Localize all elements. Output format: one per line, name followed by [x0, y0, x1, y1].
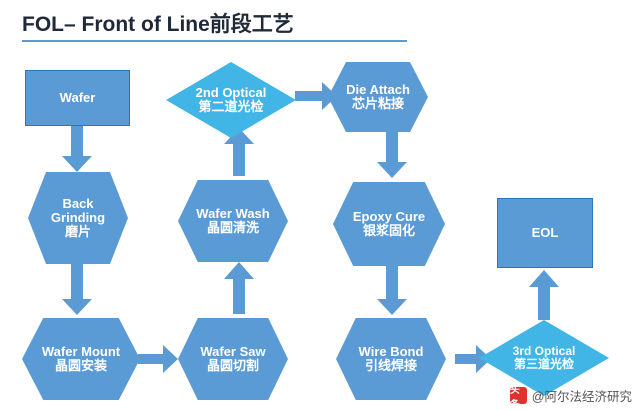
node-wire-bond-label-en: Wire Bond [359, 345, 424, 359]
node-wafer-saw-label-cn: 晶圆切割 [207, 359, 259, 373]
node-wafer-wash-label-cn: 晶圆清洗 [207, 221, 259, 235]
node-wire-bond[interactable]: Wire Bond 引线焊接 [336, 318, 446, 400]
watermark-text: @阿尔法经济研究 [532, 386, 632, 405]
node-wire-bond-label-cn: 引线焊接 [365, 359, 417, 373]
arrow-back-grinding-to-wafer-mount [62, 263, 92, 315]
node-2nd-optical-label-en: 2nd Optical [196, 86, 267, 100]
node-wafer-wash[interactable]: Wafer Wash 晶圆清洗 [178, 180, 288, 262]
node-back-grinding-label-cn: 磨片 [65, 225, 91, 239]
node-die-attach[interactable]: Die Attach 芯片粘接 [328, 62, 428, 132]
title-underline [22, 40, 407, 42]
node-back-grinding-label-en-1: Back [62, 197, 93, 211]
node-wafer-mount-label-en: Wafer Mount [42, 345, 120, 359]
node-wafer-saw-label-en: Wafer Saw [200, 345, 265, 359]
node-3rd-optical[interactable]: 3rd Optical 第三道光检 [479, 320, 609, 396]
arrow-3rd-optical-to-eol [529, 270, 559, 320]
node-wafer-wash-label-en: Wafer Wash [196, 207, 269, 221]
node-back-grinding-label-en-2: Grinding [51, 211, 105, 225]
page-title: FOL– Front of Line前段工艺 [22, 8, 294, 38]
arrow-wafer-mount-to-wafer-saw [138, 345, 178, 373]
node-eol[interactable]: EOL [497, 198, 593, 268]
node-epoxy-cure-label-en: Epoxy Cure [353, 210, 425, 224]
node-wafer-label-en: Wafer [60, 91, 96, 105]
node-epoxy-cure-label-cn: 银浆固化 [363, 224, 415, 238]
node-die-attach-label-cn: 芯片粘接 [352, 97, 404, 111]
toutiao-logo-icon: 头条 [510, 387, 527, 404]
arrow-die-attach-to-epoxy-cure [377, 130, 407, 178]
node-wafer-mount-label-cn: 晶圆安装 [55, 359, 107, 373]
node-back-grinding[interactable]: Back Grinding 磨片 [28, 172, 128, 264]
node-epoxy-cure[interactable]: Epoxy Cure 银浆固化 [333, 182, 445, 266]
node-wafer-saw[interactable]: Wafer Saw 晶圆切割 [178, 318, 288, 400]
node-wafer[interactable]: Wafer [25, 70, 130, 126]
arrow-epoxy-cure-to-wire-bond [377, 265, 407, 315]
arrow-wafer-to-back-grinding [62, 126, 92, 172]
node-die-attach-label-en: Die Attach [346, 83, 410, 97]
node-eol-label-en: EOL [532, 226, 559, 240]
watermark: 头条 @阿尔法经济研究 [510, 386, 632, 405]
node-3rd-optical-label-cn: 第三道光检 [514, 358, 574, 371]
arrow-wafer-saw-to-wafer-wash [224, 262, 254, 314]
node-2nd-optical[interactable]: 2nd Optical 第二道光检 [166, 62, 296, 138]
diagram-canvas: FOL– Front of Line前段工艺 [0, 0, 640, 411]
node-2nd-optical-label-cn: 第二道光检 [198, 100, 263, 114]
node-wafer-mount[interactable]: Wafer Mount 晶圆安装 [22, 318, 140, 400]
